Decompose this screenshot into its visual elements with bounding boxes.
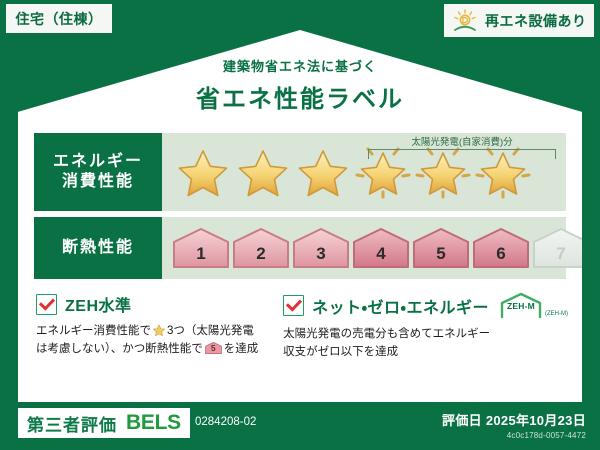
check-net-zero-energy-title: ネット・ゼロ・エネルギー	[312, 294, 489, 318]
insulation-level-number: 6	[496, 244, 505, 270]
label-body-panel: 建築物省エネ法に基づく 省エネ性能ラベル エネルギー 消費性能	[18, 30, 582, 402]
evaluation-date: 評価日 2025年10月23日	[442, 410, 586, 429]
checkmark-icon	[283, 295, 304, 316]
star-solar-icon	[354, 144, 412, 200]
insulation-rating-body: 1 2 3	[162, 217, 590, 279]
star-solar-icon	[414, 144, 472, 200]
nze-desc-line1: 太陽光発電の売電分も含めてエネルギー	[283, 328, 490, 340]
title-block: 建築物省エネ法に基づく 省エネ性能ラベル	[18, 56, 582, 114]
energy-label-line1: エネルギー	[53, 152, 143, 172]
check-zeh-standard: ZEH水準 エネルギー消費性能で3つ（太陽光発電は考慮しない）、かつ断熱性能で5…	[36, 292, 269, 362]
check-net-zero-energy-description: 太陽光発電の売電分も含めてエネルギー収支がゼロ以下を達成	[283, 326, 568, 362]
zeh-m-logo-subtext: (ZEH-M)	[545, 311, 568, 319]
insulation-level-number: 1	[196, 244, 205, 270]
evaluation-hash: 4c0c178d-0057-4472	[442, 431, 586, 440]
energy-label-line2: 消費性能	[62, 172, 134, 192]
star-solar-icon	[474, 144, 532, 200]
insulation-level-number: 7	[556, 244, 565, 270]
insulation-level-badge: 3	[292, 226, 350, 270]
insulation-level-number: 3	[316, 244, 325, 270]
check-zeh-standard-header: ZEH水準	[36, 292, 269, 316]
renewable-equipment-badge: 再エネ設備あり	[444, 4, 594, 37]
insulation-level-scale: 1 2 3	[162, 226, 590, 270]
zeh-m-logo-text: ZEH-M	[499, 301, 543, 311]
energy-performance-row: エネルギー 消費性能	[34, 133, 566, 211]
bels-logo-text: BELS	[126, 411, 181, 435]
zeh-m-logo: ZEH-M (ZEH-M)	[499, 292, 568, 319]
title-subtitle: 建築物省エネ法に基づく	[18, 56, 582, 75]
third-party-evaluation-label: 第三者評価	[27, 411, 117, 436]
check-net-zero-energy-header: ネット・ゼロ・エネルギー ZEH-M (ZEH-M)	[283, 292, 568, 319]
inline-house-number: 5	[205, 342, 222, 355]
insulation-level-number: 2	[256, 244, 265, 270]
inline-house-icon: 5	[205, 341, 222, 355]
insulation-level-badge: 6	[472, 226, 530, 270]
checkmark-icon	[36, 294, 57, 315]
house-type-badge: 住宅（住棟）	[6, 4, 112, 33]
page-title: 省エネ性能ラベル	[18, 79, 582, 114]
bels-number-holder: 0284208-02	[195, 412, 256, 430]
bels-certificate-number: 0284208-02	[195, 416, 256, 428]
star-rating	[162, 144, 532, 200]
zeh-desc-part1: エネルギー消費性能で	[36, 325, 151, 337]
insulation-level-badge: 4	[352, 226, 410, 270]
zeh-desc-star-count: 3つ（太陽光発電	[167, 325, 254, 337]
energy-rating-body: 太陽光発電(自家消費)分	[162, 133, 566, 211]
insulation-performance-label: 断熱性能	[34, 217, 162, 279]
check-net-zero-energy: ネット・ゼロ・エネルギー ZEH-M (ZEH-M) 太陽光発電の売電分も含めて…	[283, 292, 568, 362]
sun-icon	[452, 9, 478, 33]
check-zeh-standard-title: ZEH水準	[65, 292, 132, 316]
zeh-desc-part2: は考慮しない）、かつ断熱性能で	[36, 343, 203, 355]
inline-star-icon	[152, 323, 166, 337]
achievement-checks: ZEH水準 エネルギー消費性能で3つ（太陽光発電は考慮しない）、かつ断熱性能で5…	[36, 292, 568, 362]
insulation-label-line1: 断熱性能	[62, 238, 134, 258]
insulation-level-badge: 2	[232, 226, 290, 270]
zeh-desc-part3: を達成	[224, 343, 259, 355]
insulation-level-number: 5	[436, 244, 445, 270]
insulation-level-badge-inactive: 7	[532, 226, 590, 270]
check-zeh-standard-description: エネルギー消費性能で3つ（太陽光発電は考慮しない）、かつ断熱性能で5を達成	[36, 323, 269, 359]
insulation-performance-row: 断熱性能	[34, 217, 566, 279]
rating-rows: エネルギー 消費性能	[34, 133, 566, 285]
nze-desc-line2: 収支がゼロ以下を達成	[283, 346, 398, 358]
insulation-level-number: 4	[376, 244, 385, 270]
energy-performance-label: 住宅（住棟） 再エネ設備あり 建築物省エネ法に基づく 省エネ性能ラベ	[0, 0, 600, 450]
evaluation-info: 評価日 2025年10月23日 4c0c178d-0057-4472	[442, 410, 586, 440]
bels-certification-bar: 第三者評価 BELS	[18, 408, 190, 438]
star-icon	[294, 144, 352, 200]
star-icon	[234, 144, 292, 200]
insulation-level-badge: 5	[412, 226, 470, 270]
zeh-m-house-icon: ZEH-M	[499, 292, 543, 319]
star-icon	[174, 144, 232, 200]
house-type-label: 住宅（住棟）	[16, 9, 103, 29]
insulation-level-badge: 1	[172, 226, 230, 270]
renewable-equipment-label: 再エネ設備あり	[485, 11, 587, 31]
energy-performance-label: エネルギー 消費性能	[34, 133, 162, 211]
